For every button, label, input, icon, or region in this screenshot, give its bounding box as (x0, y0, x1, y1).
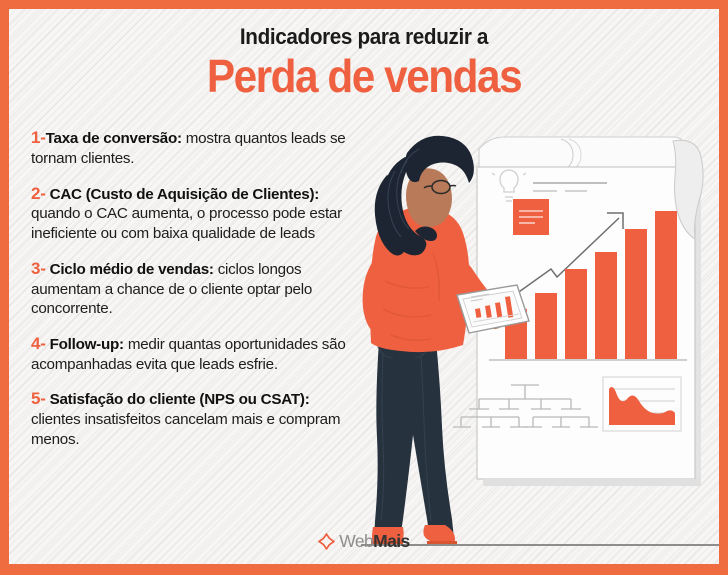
figure-legs (374, 341, 454, 539)
poster-canvas: Indicadores para reduzir a Perda de vend… (9, 9, 719, 564)
list-item-body: clientes insatisfeitos cancelam mais e c… (31, 411, 340, 448)
brand-logo-mais: Mais (373, 531, 410, 551)
sticky-note (513, 199, 549, 235)
indicator-list: 1-Taxa de conversão: mostra quantos lead… (31, 127, 361, 463)
list-item: 3- Ciclo médio de vendas: ciclos longos … (31, 258, 361, 319)
webmais-diamond-icon (318, 533, 335, 550)
area-chart (603, 377, 681, 431)
list-item-number: 5- (31, 389, 46, 408)
list-item: 5- Satisfação do cliente (NPS ou CSAT): … (31, 388, 361, 449)
list-item: 4- Follow-up: medir quantas oportunidade… (31, 333, 361, 375)
poster-header: Indicadores para reduzir a Perda de vend… (9, 25, 719, 100)
poster-frame: Indicadores para reduzir a Perda de vend… (0, 0, 728, 575)
list-item: 1-Taxa de conversão: mostra quantos lead… (31, 127, 361, 169)
list-item-number: 4- (31, 334, 46, 353)
list-item-lead: Taxa de conversão: (46, 130, 182, 147)
list-item-lead: Ciclo médio de vendas: (46, 261, 214, 278)
illustration-woman-presenting (361, 113, 719, 553)
page-title: Perda de vendas (37, 53, 690, 100)
brand-logo-text: WebMais (339, 533, 409, 551)
list-item-body: quando o CAC aumenta, o processo pode es… (31, 205, 342, 242)
list-item-number: 1- (31, 128, 46, 147)
header-kicker: Indicadores para reduzir a (37, 25, 690, 50)
list-item-lead: Follow-up: (46, 336, 124, 353)
brand-logo-web: Web (339, 531, 373, 551)
list-item: 2- CAC (Custo de Aquisição de Clientes):… (31, 183, 361, 244)
list-item-number: 3- (31, 259, 46, 278)
list-item-number: 2- (31, 184, 46, 203)
list-item-lead: Satisfação do cliente (NPS ou CSAT): (46, 391, 310, 408)
brand-logo: WebMais (9, 533, 719, 551)
list-item-lead: CAC (Custo de Aquisição de Clientes): (46, 186, 319, 203)
